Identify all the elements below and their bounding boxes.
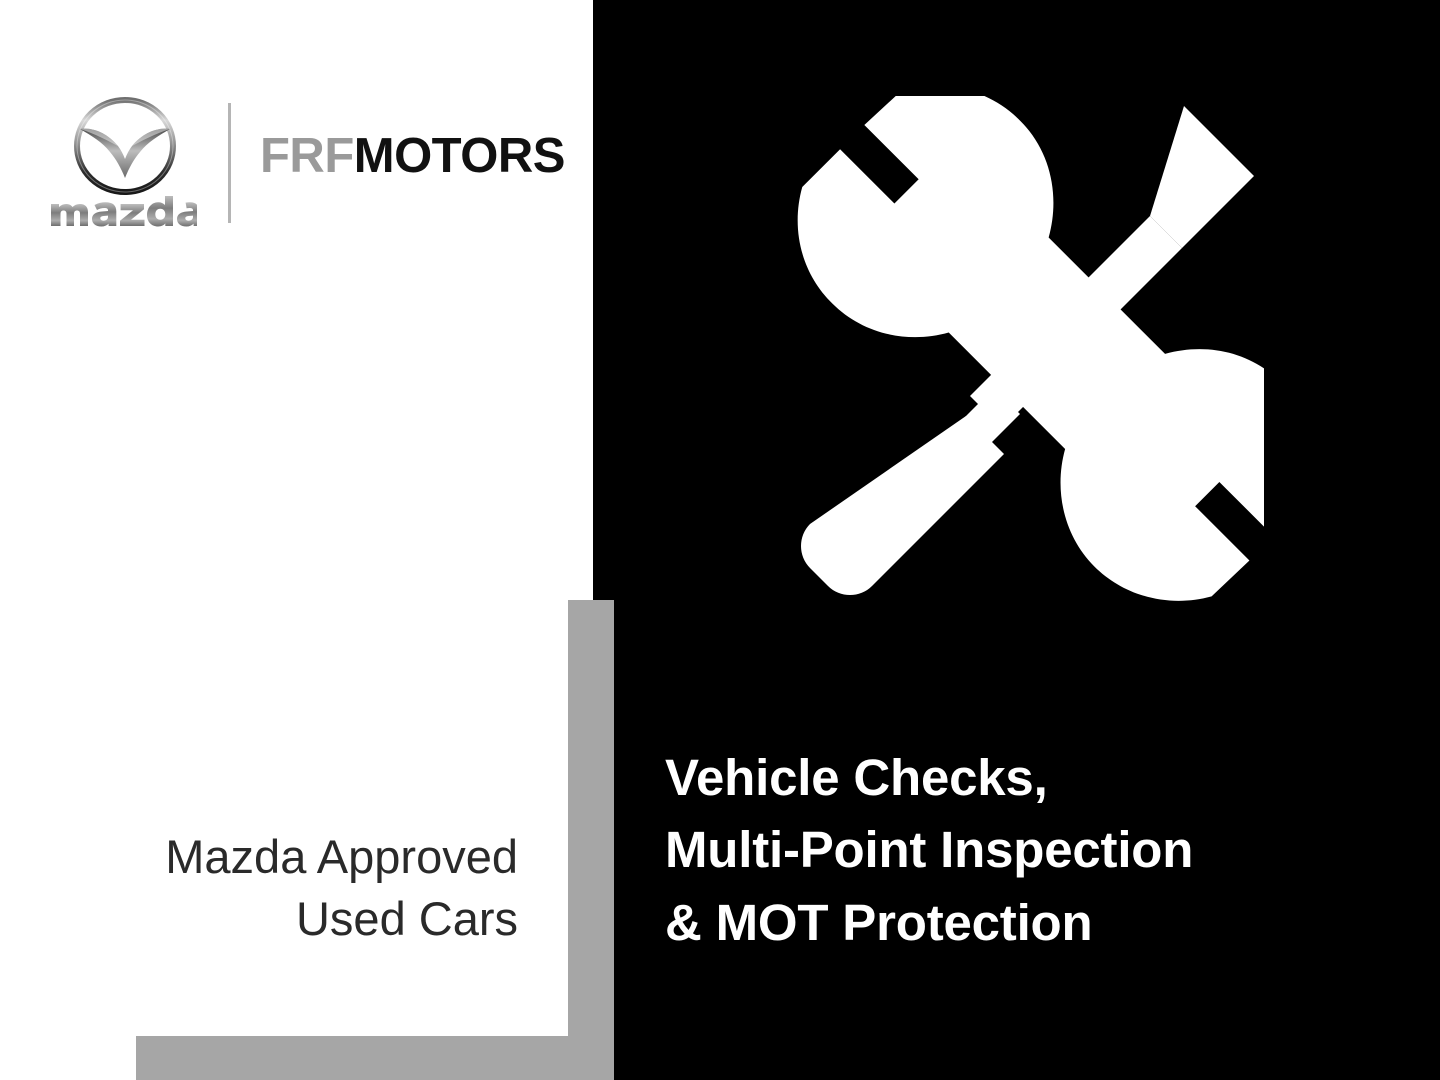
dealer-name: FRFMOTORS — [260, 132, 565, 181]
dealer-name-part2: MOTORS — [354, 129, 565, 183]
accent-bar-horizontal — [136, 1036, 614, 1080]
left-subtitle-line-2: Used Cars — [60, 888, 518, 950]
wrench-and-screwdriver-icon — [752, 96, 1264, 608]
slide-title-line-2: Multi-Point Inspection — [665, 814, 1425, 886]
left-subtitle: Mazda Approved Used Cars — [60, 826, 518, 950]
logo-divider — [228, 103, 231, 223]
dealer-name-part1: FRF — [260, 129, 354, 183]
mazda-wordmark — [49, 196, 197, 230]
slide-title-line-3: & MOT Protection — [665, 887, 1425, 959]
left-subtitle-line-1: Mazda Approved — [60, 826, 518, 888]
accent-white-notch — [0, 600, 568, 1036]
presentation-slide: FRFMOTORS Mazda Approved Used Cars Vehic… — [0, 0, 1440, 1080]
slide-title-line-1: Vehicle Checks, — [665, 742, 1425, 814]
mazda-logo-icon — [50, 96, 200, 196]
accent-bar-vertical — [568, 600, 614, 1080]
logo-lockup: FRFMOTORS — [45, 96, 545, 236]
slide-title: Vehicle Checks, Multi-Point Inspection &… — [665, 742, 1425, 959]
